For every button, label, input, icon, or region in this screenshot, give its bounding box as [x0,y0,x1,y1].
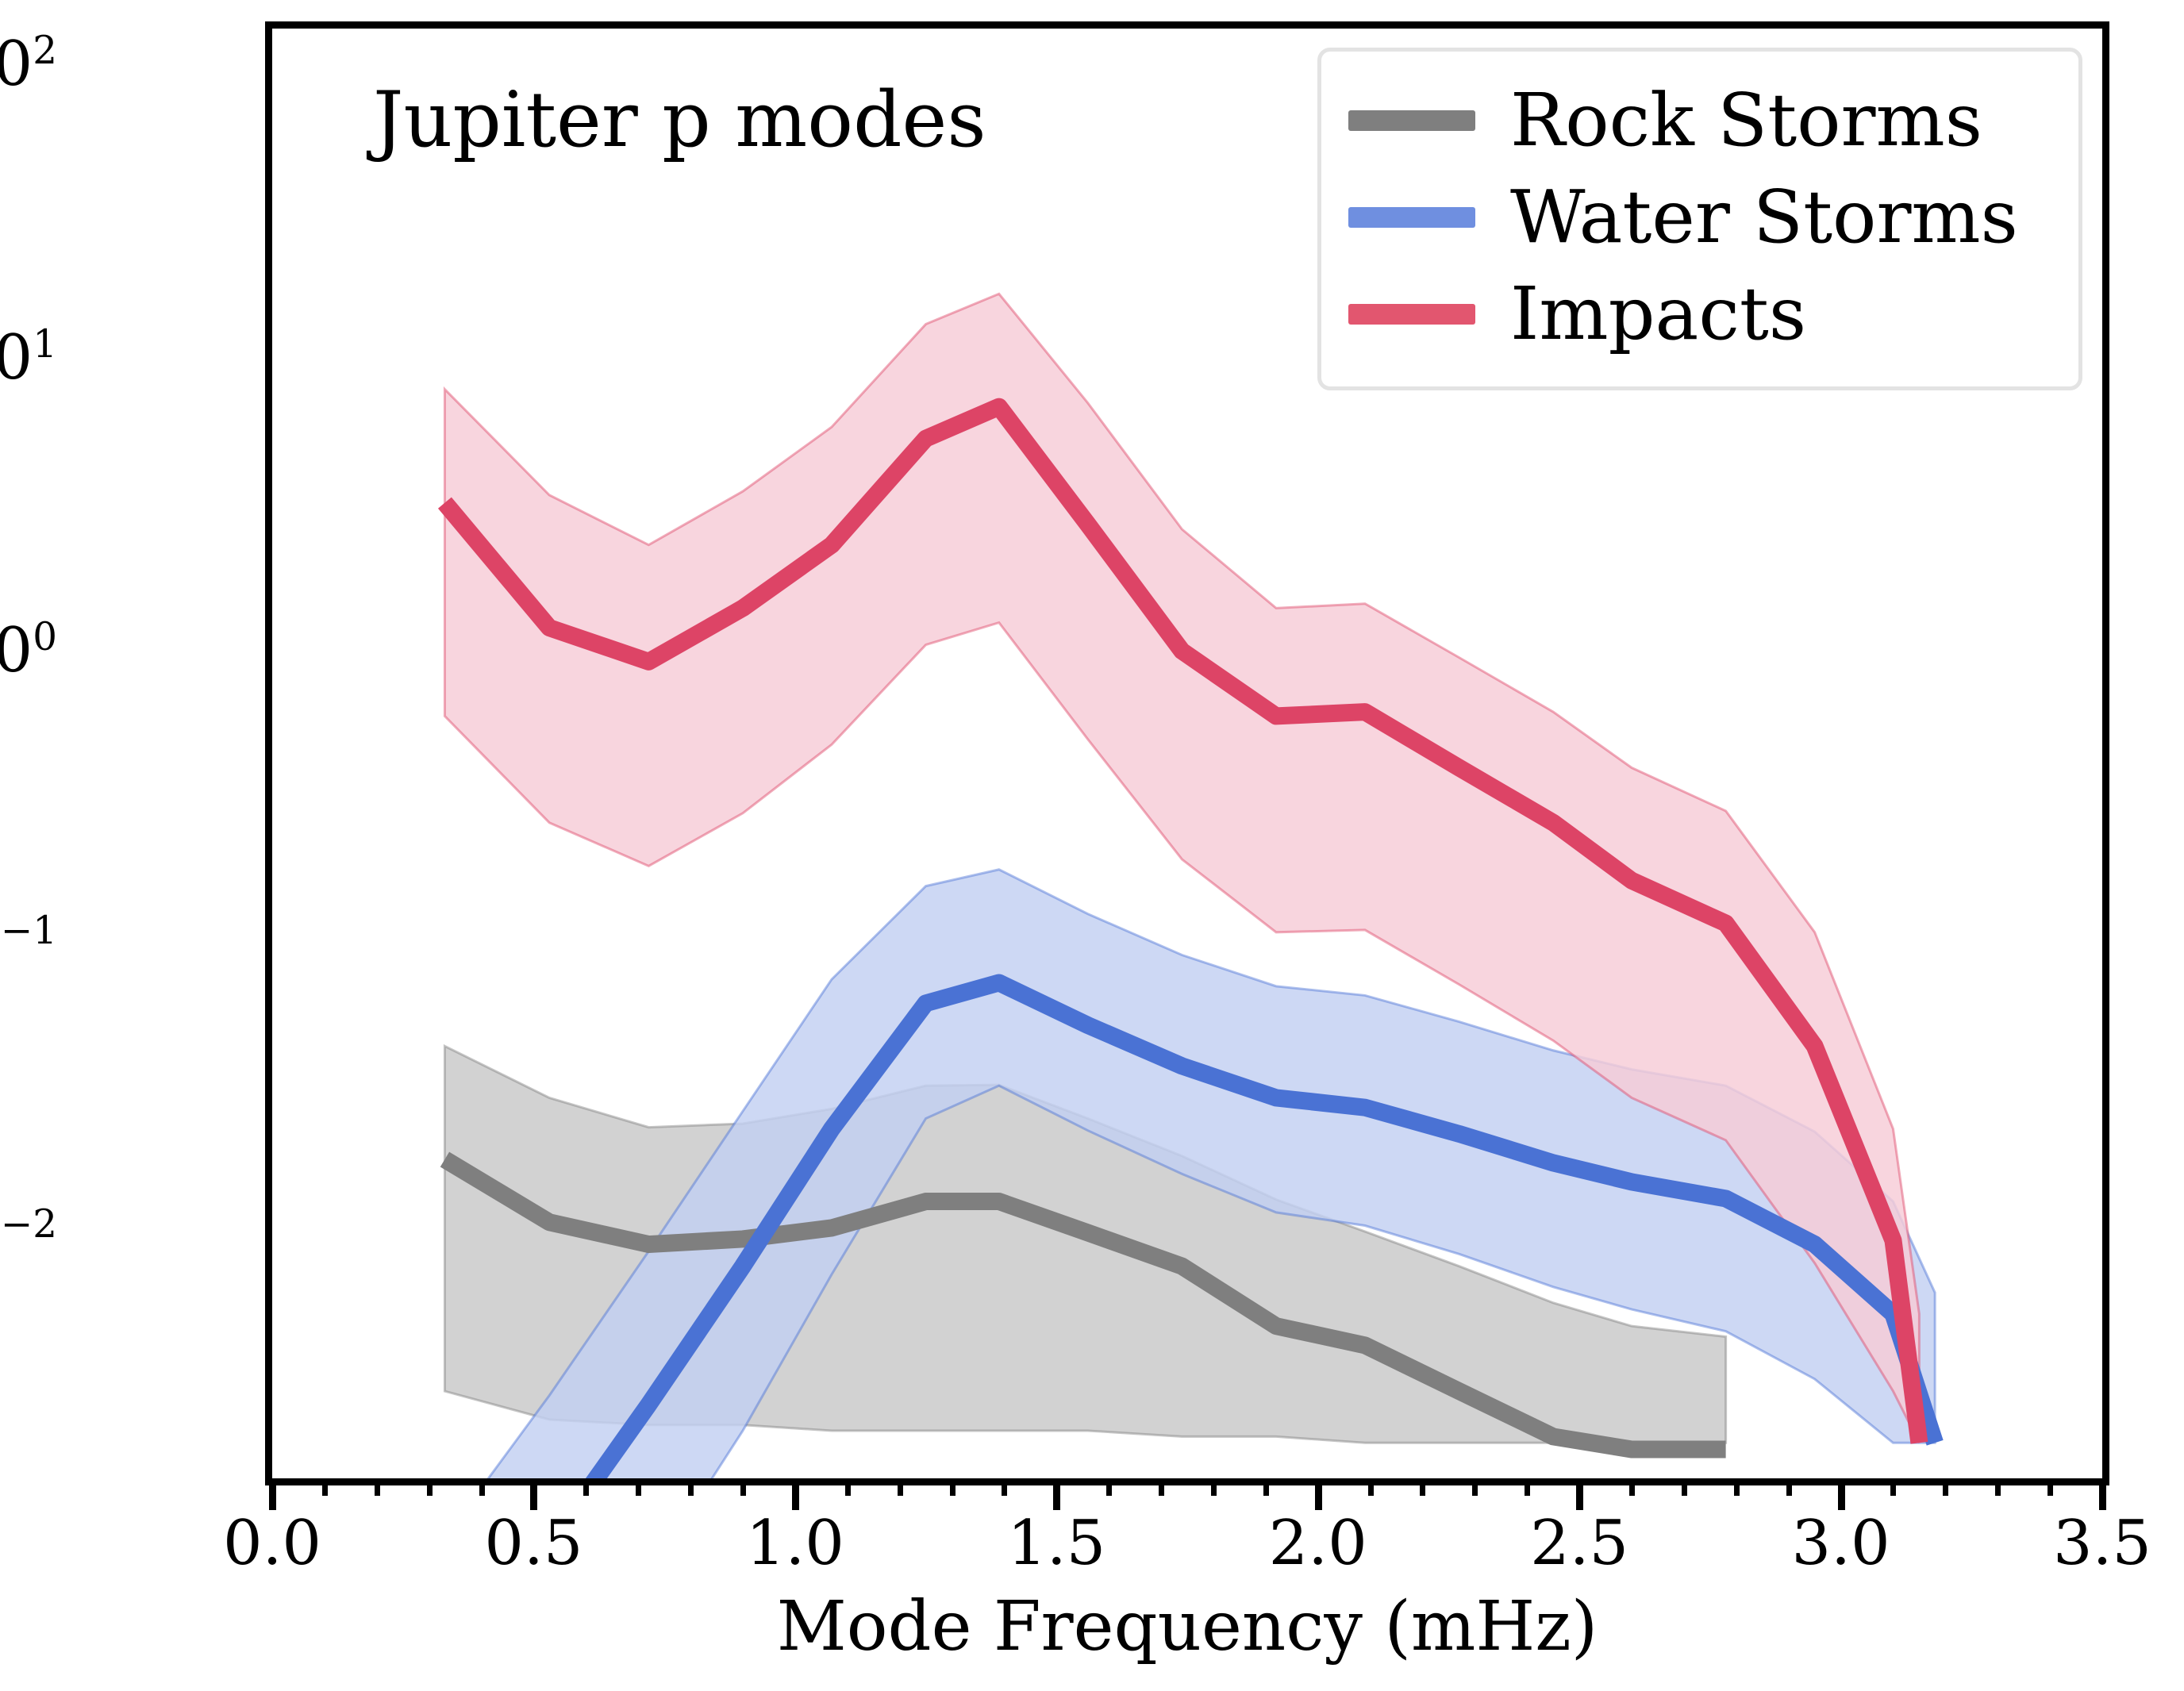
y-tick-mantissa: 10 [0,29,33,100]
x-tick-label-5: 2.5 [1530,1508,1628,1579]
y-tick-label-4: 10−2 [0,1202,57,1274]
legend-entry-impacts[interactable]: Impacts [1348,266,2051,363]
y-tick-exponent: 0 [33,615,57,659]
y-tick-exponent: 1 [33,322,57,367]
legend-entry-rock-storms[interactable]: Rock Storms [1348,72,2051,169]
y-tick-exponent: 2 [33,29,57,73]
y-tick-mantissa: 10 [0,615,33,686]
legend-label-rock-storms: Rock Storms [1510,84,1982,157]
x-axis-label: Mode Frequency (mHz) [265,1587,2109,1666]
legend-label-impacts: Impacts [1510,278,1806,351]
legend-label-water-storms: Water Storms [1510,181,2018,254]
x-tick-label-4: 2.0 [1269,1508,1367,1579]
legend-swatch-impacts [1348,304,1475,325]
y-tick-exponent: −1 [1,909,57,953]
x-tick-label-6: 3.0 [1792,1508,1890,1579]
y-tick-label-2: 100 [0,615,57,686]
y-tick-exponent: −2 [1,1202,57,1247]
y-tick-mantissa: 10 [0,322,33,394]
legend-swatch-rock-storms [1348,110,1475,131]
x-tick-label-0: 0.0 [223,1508,321,1579]
x-tick-label-7: 3.5 [2053,1508,2151,1579]
chart-title: Jupiter p modes [373,75,986,164]
legend-swatch-water-storms [1348,207,1475,228]
y-tick-label-0: 102 [0,29,57,100]
x-tick-label-3: 1.5 [1007,1508,1105,1579]
y-tick-label-3: 10−1 [0,909,57,980]
legend-box: Rock Storms Water Storms Impacts [1317,48,2082,390]
y-tick-label-1: 101 [0,322,57,394]
figure-canvas: Surface velocity (cm/s) Mode Frequency (… [0,0,2184,1691]
legend-entry-water-storms[interactable]: Water Storms [1348,169,2051,266]
x-tick-label-1: 0.5 [484,1508,583,1579]
x-tick-label-2: 1.0 [746,1508,844,1579]
